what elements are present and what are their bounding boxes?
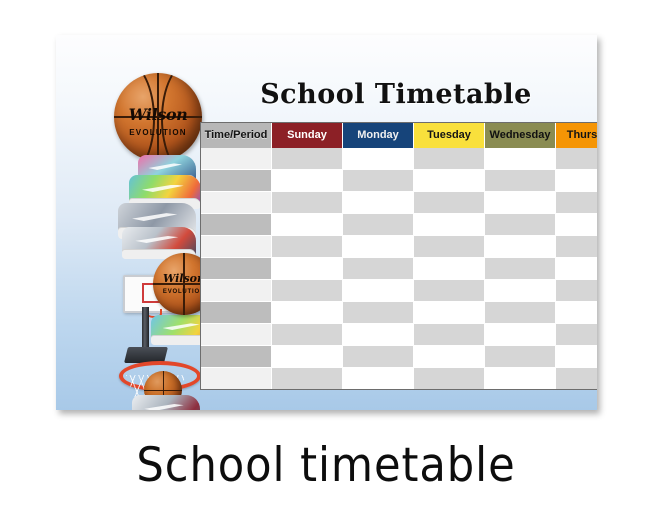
timetable-cell[interactable] [272, 324, 343, 346]
timetable-cell[interactable] [343, 236, 414, 258]
table-row [201, 368, 597, 389]
basketball-hoop-icon [119, 361, 201, 391]
table-row [201, 214, 597, 236]
timetable-cell[interactable] [343, 170, 414, 192]
timetable-cell[interactable] [272, 368, 343, 389]
table-row [201, 280, 597, 302]
timetable-cell[interactable] [485, 170, 556, 192]
timetable-cell[interactable] [343, 148, 414, 170]
timetable-cell[interactable] [343, 346, 414, 368]
timetable-cell[interactable] [485, 368, 556, 389]
timetable-cell[interactable] [272, 192, 343, 214]
timetable-cell[interactable] [485, 324, 556, 346]
timetable-cell[interactable] [343, 368, 414, 389]
column-header-tuesday[interactable]: Tuesday [414, 123, 485, 148]
timetable-cell[interactable] [272, 148, 343, 170]
basketball-brand-label: Wilson [114, 105, 202, 124]
timetable-cell[interactable] [272, 170, 343, 192]
timetable-cell[interactable] [414, 214, 485, 236]
timetable-cell-period[interactable] [201, 148, 272, 170]
timetable-cell-period[interactable] [201, 280, 272, 302]
timetable-cell-period[interactable] [201, 368, 272, 389]
timetable-cell[interactable] [485, 258, 556, 280]
timetable-cell[interactable] [556, 324, 597, 346]
timetable-cell[interactable] [272, 346, 343, 368]
timetable-cell[interactable] [485, 192, 556, 214]
timetable-cell[interactable] [272, 280, 343, 302]
column-header-monday[interactable]: Monday [343, 123, 414, 148]
timetable-cell[interactable] [343, 280, 414, 302]
timetable-cell-period[interactable] [201, 236, 272, 258]
timetable-cell[interactable] [556, 258, 597, 280]
timetable-cell-period[interactable] [201, 214, 272, 236]
timetable-cell[interactable] [485, 302, 556, 324]
sneaker-icon [138, 155, 196, 185]
timetable-cell[interactable] [485, 346, 556, 368]
timetable-cell-period[interactable] [201, 170, 272, 192]
timetable-cell[interactable] [414, 236, 485, 258]
basketball-model-label: EVOLUTION [114, 128, 202, 137]
basketball-icon [144, 371, 182, 409]
timetable-cell[interactable] [556, 346, 597, 368]
column-header-thursday[interactable]: Thursday [556, 123, 597, 148]
table-row [201, 302, 597, 324]
table-row [201, 346, 597, 368]
timetable-cell[interactable] [485, 214, 556, 236]
timetable-cell[interactable] [414, 148, 485, 170]
timetable-cell-period[interactable] [201, 346, 272, 368]
timetable-cell[interactable] [485, 236, 556, 258]
timetable-cell[interactable] [272, 236, 343, 258]
basketball-icon: Wilson EVOLUTION [114, 73, 202, 161]
page-title: School Timetable [201, 79, 591, 110]
timetable-cell[interactable] [343, 324, 414, 346]
table-row [201, 258, 597, 280]
timetable-cell[interactable] [485, 148, 556, 170]
sneaker-icon [122, 227, 196, 259]
timetable-cell-period[interactable] [201, 324, 272, 346]
timetable-cell[interactable] [556, 148, 597, 170]
sneaker-icon [132, 395, 200, 410]
column-header-wednesday[interactable]: Wednesday [485, 123, 556, 148]
table-row [201, 236, 597, 258]
timetable-cell[interactable] [556, 170, 597, 192]
timetable-cell[interactable] [414, 170, 485, 192]
timetable-cell-period[interactable] [201, 258, 272, 280]
caption-text: School timetable [26, 438, 626, 493]
timetable-cell[interactable] [414, 368, 485, 389]
timetable-cell[interactable] [414, 324, 485, 346]
basketball-backboard-icon [123, 275, 181, 313]
timetable-cell[interactable] [414, 346, 485, 368]
timetable-cell-period[interactable] [201, 192, 272, 214]
table-row [201, 170, 597, 192]
column-header-time-period[interactable]: Time/Period [201, 123, 272, 148]
sneaker-icon [129, 175, 201, 209]
timetable-cell[interactable] [556, 192, 597, 214]
poster: Wilson EVOLUTION Wilson EVOLUTION School… [56, 35, 597, 410]
timetable-cell[interactable] [343, 214, 414, 236]
hoop-base-icon [124, 347, 168, 363]
hoop-pole-icon [142, 307, 149, 351]
timetable-cell[interactable] [343, 302, 414, 324]
sneaker-icon [118, 203, 196, 239]
timetable-cell[interactable] [556, 236, 597, 258]
timetable-cell[interactable] [414, 280, 485, 302]
timetable-cell[interactable] [414, 192, 485, 214]
table-row [201, 148, 597, 170]
timetable: Time/Period Sunday Monday Tuesday Wednes… [200, 122, 597, 390]
timetable-header-row: Time/Period Sunday Monday Tuesday Wednes… [201, 123, 597, 148]
column-header-sunday[interactable]: Sunday [272, 123, 343, 148]
timetable-cell[interactable] [414, 258, 485, 280]
timetable-cell[interactable] [272, 214, 343, 236]
timetable-cell[interactable] [343, 192, 414, 214]
table-row [201, 192, 597, 214]
table-row [201, 324, 597, 346]
timetable-cell[interactable] [272, 258, 343, 280]
timetable-cell[interactable] [485, 280, 556, 302]
timetable-cell[interactable] [556, 280, 597, 302]
timetable-body [201, 148, 597, 389]
timetable-cell[interactable] [272, 302, 343, 324]
basketball-net-icon [126, 375, 186, 409]
timetable-cell[interactable] [414, 302, 485, 324]
timetable-cell[interactable] [343, 258, 414, 280]
timetable-cell-period[interactable] [201, 302, 272, 324]
timetable-cell[interactable] [556, 368, 597, 389]
timetable-cell[interactable] [556, 302, 597, 324]
timetable-cell[interactable] [556, 214, 597, 236]
